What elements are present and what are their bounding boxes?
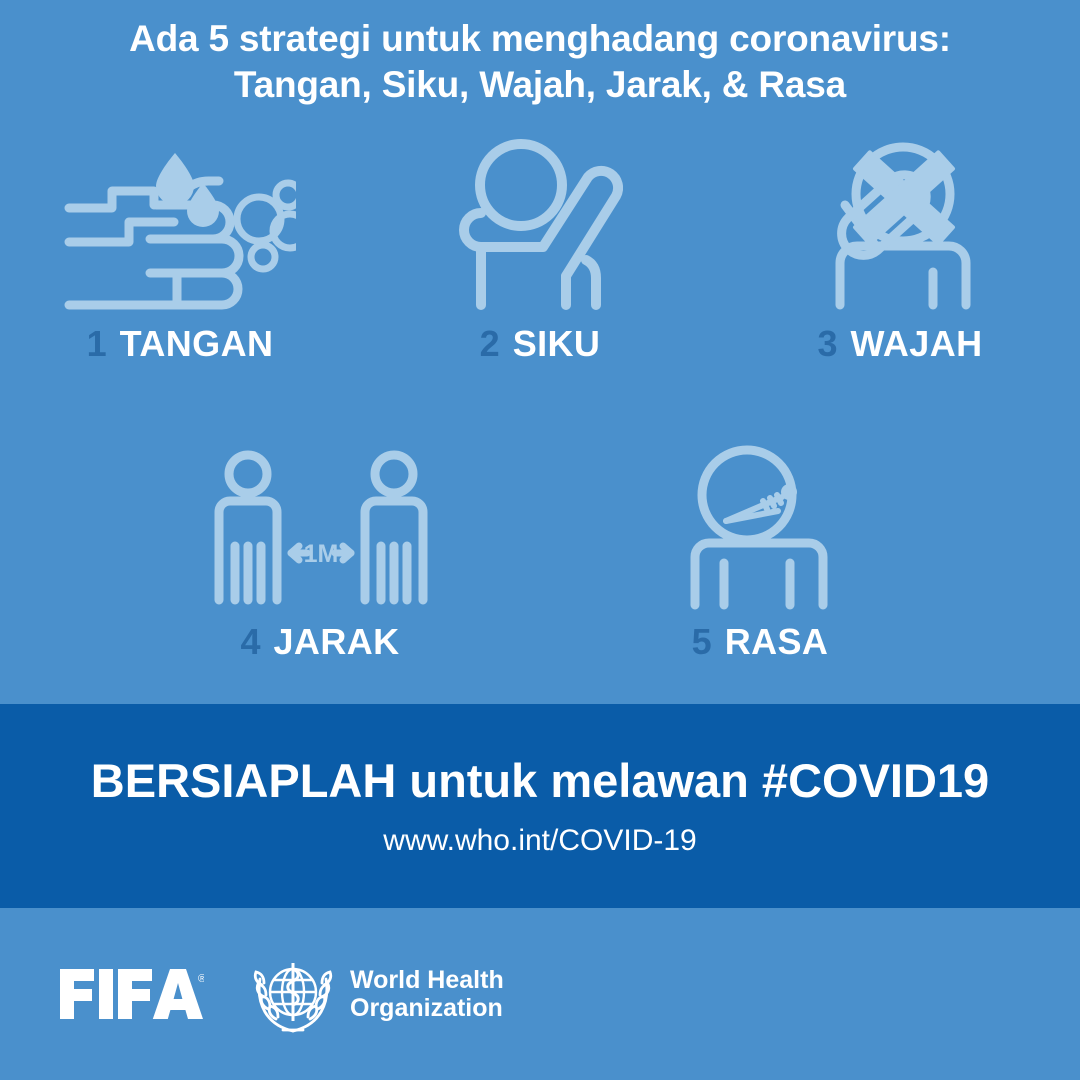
footer-logos: ®	[0, 908, 1080, 1080]
strategy-caption: 5 RASA	[692, 624, 829, 660]
strategy-number: 4	[240, 624, 260, 660]
strategy-number: 5	[692, 624, 712, 660]
call-to-action-banner: BERSIAPLAH untuk melawan #COVID19 www.wh…	[0, 704, 1080, 908]
who-emblem-icon	[250, 951, 336, 1037]
strategy-caption: 4 JARAK	[240, 624, 399, 660]
strategy-number: 3	[817, 326, 837, 362]
fifa-logo: ®	[58, 966, 204, 1022]
strategy-label: WAJAH	[851, 326, 983, 362]
strategy-caption: 2 SIKU	[480, 326, 601, 362]
feeling-unwell-thermometer-icon	[685, 430, 835, 610]
hand-washing-icon	[64, 132, 296, 312]
strategy-item-rasa: 5 RASA	[610, 430, 910, 660]
title-line-1: Ada 5 strategi untuk menghadang coronavi…	[0, 16, 1080, 62]
title-line-2: Tangan, Siku, Wajah, Jarak, & Rasa	[0, 62, 1080, 108]
who-logo-text: World Health Organization	[350, 966, 504, 1022]
strategy-grid: 1 TANGAN	[0, 132, 1080, 660]
strategy-caption: 1 TANGAN	[87, 326, 274, 362]
strategy-label: RASA	[725, 624, 829, 660]
who-logo-line-2: Organization	[350, 994, 504, 1022]
strategy-label: TANGAN	[120, 326, 274, 362]
strategy-item-jarak: 1M 4 JARAK	[170, 430, 470, 660]
strategy-label: SIKU	[513, 326, 601, 362]
strategy-item-tangan: 1 TANGAN	[30, 132, 330, 362]
cough-into-elbow-icon	[458, 132, 623, 312]
strategy-item-wajah: 3 WAJAH	[750, 132, 1050, 362]
no-face-touching-icon	[815, 132, 985, 312]
strategy-row-bottom: 1M 4 JARAK	[0, 430, 1080, 660]
banner-url[interactable]: www.who.int/COVID-19	[383, 824, 696, 858]
strategy-caption: 3 WAJAH	[817, 326, 982, 362]
strategy-label: JARAK	[274, 624, 400, 660]
strategy-row-top: 1 TANGAN	[0, 132, 1080, 362]
who-logo-line-1: World Health	[350, 966, 504, 994]
strategy-number: 2	[480, 326, 500, 362]
strategy-item-siku: 2 SIKU	[390, 132, 690, 362]
strategy-number: 1	[87, 326, 107, 362]
distance-label: 1M	[303, 540, 338, 568]
fifa-trademark-symbol: ®	[198, 973, 204, 985]
banner-headline: BERSIAPLAH untuk melawan #COVID19	[91, 754, 989, 808]
who-logo: World Health Organization	[250, 951, 504, 1037]
physical-distance-icon: 1M	[198, 430, 443, 610]
page-title: Ada 5 strategi untuk menghadang coronavi…	[0, 16, 1080, 108]
covid-prevention-poster: Ada 5 strategi untuk menghadang coronavi…	[0, 0, 1080, 1080]
